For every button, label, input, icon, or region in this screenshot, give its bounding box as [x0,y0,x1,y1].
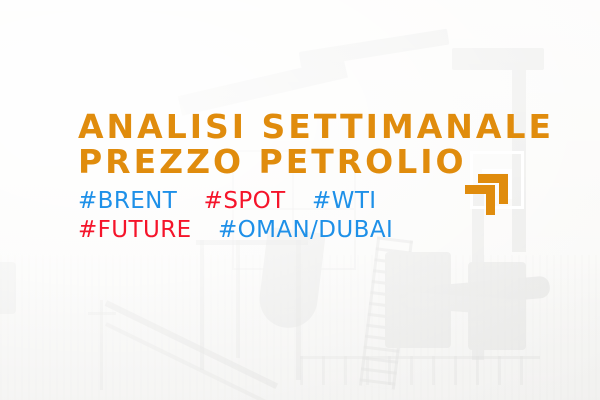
hashtag-wti[interactable]: #WTI [312,188,376,214]
banner-canvas: ANALISI SETTIMANALE PREZZO PETROLIO #BRE… [0,0,600,400]
hashtag-spot[interactable]: #SPOT [204,188,286,214]
logo-chevron-white-arm-vertical [508,169,512,199]
hashtag-oman-dubai[interactable]: #OMAN/DUBAI [218,217,393,243]
logo-chevron-orange-front-icon [465,185,495,215]
hashtag-brent[interactable]: #BRENT [78,188,177,214]
hashtag-row-1: #BRENT #SPOT #WTI [78,190,376,213]
hashtag-row-2: #FUTURE #OMAN/DUBAI [78,219,393,242]
banner-content: ANALISI SETTIMANALE PREZZO PETROLIO #BRE… [0,0,600,400]
banner-title-line-2: PREZZO PETROLIO [78,145,467,178]
logo-chevron-orange-front-arm-vertical [486,185,495,215]
logo-chevron-orange-back-arm-vertical [499,174,508,204]
hashtag-future[interactable]: #FUTURE [78,217,192,243]
banner-title-line-1: ANALISI SETTIMANALE [78,110,554,143]
chevron-square-logo-icon [460,144,530,216]
